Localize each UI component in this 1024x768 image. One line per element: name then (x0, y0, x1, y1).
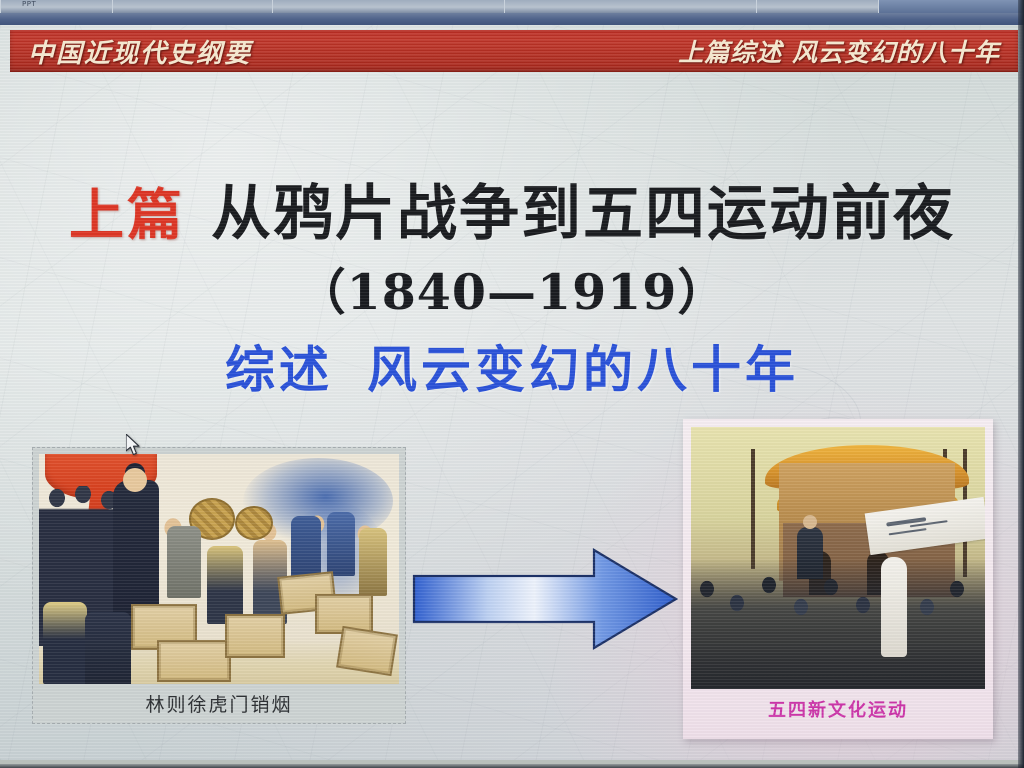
screen-bezel-bottom (0, 764, 1024, 768)
figure-right-caption: 五四新文化运动 (691, 689, 985, 731)
figure-right-image (691, 427, 985, 689)
course-title: 中国近现代史纲要 (28, 33, 252, 70)
right-block-arrow-icon (412, 548, 678, 650)
chrome-segment (0, 0, 114, 13)
presentation-slide: 中国近现代史纲要 上篇综述 风云变幻的八十年 上篇 从鸦片战争到五四运动前夜 （… (0, 25, 1024, 760)
subtitle-text: 风云变幻的八十年 (367, 341, 799, 399)
headline-part-label: 上篇 (69, 170, 185, 250)
subtitle-lead: 综述 (225, 341, 333, 399)
slide-header-bar: 中国近现代史纲要 上篇综述 风云变幻的八十年 (10, 30, 1018, 72)
headline-main-title: 从鸦片战争到五四运动前夜 (211, 165, 955, 252)
chrome-segment (878, 0, 1024, 13)
figure-right[interactable]: 五四新文化运动 (683, 419, 993, 739)
chrome-app-label: PPT (22, 0, 36, 9)
chrome-segment (504, 0, 758, 13)
headline-row: 上篇 从鸦片战争到五四运动前夜 (0, 165, 1024, 252)
photographed-screen: PPT 中国近现代史纲要 上篇综述 风云变幻的八十年 上篇 从鸦片战争到五四运动… (0, 0, 1024, 768)
headline-date-range: （1840—1919） (0, 253, 1024, 324)
screen-bezel-right (1018, 0, 1024, 768)
slide-subtitle: 综述风云变幻的八十年 (0, 330, 1024, 402)
transition-arrow (412, 548, 678, 650)
figure-left-caption: 林则徐虎门销烟 (39, 684, 399, 724)
chrome-segment (756, 0, 880, 13)
figure-left-image (39, 454, 399, 684)
window-chrome-strip: PPT (0, 0, 1024, 13)
section-title: 上篇综述 风云变幻的八十年 (678, 33, 1000, 69)
chrome-segment (112, 0, 274, 13)
chrome-segment (272, 0, 506, 13)
figure-left[interactable]: 林则徐虎门销烟 (32, 447, 406, 724)
